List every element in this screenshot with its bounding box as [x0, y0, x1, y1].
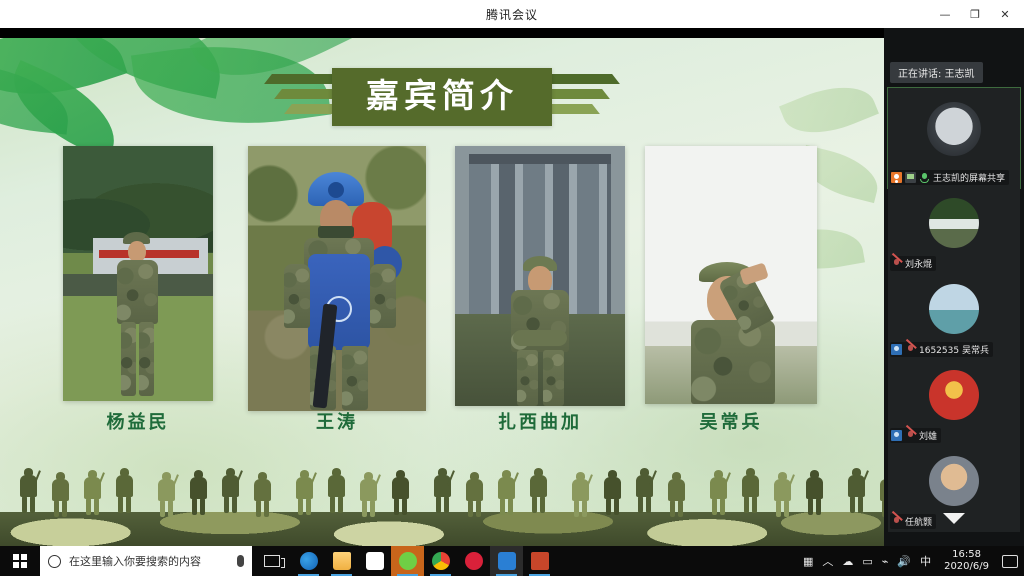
- task-view-button[interactable]: [252, 546, 292, 576]
- search-icon: [48, 555, 61, 568]
- task-view-icon: [264, 555, 280, 567]
- taskbar-app-opera[interactable]: [457, 546, 490, 576]
- soldier-silhouette: [708, 470, 730, 518]
- participant-avatar: [929, 370, 979, 420]
- soldier-silhouette: [252, 472, 274, 520]
- window-titlebar: 腾讯会议 — ❐ ✕: [0, 0, 1024, 28]
- clock-time: 16:58: [944, 549, 989, 562]
- soldier-silhouette: [570, 472, 592, 520]
- taskbar-app-powerpoint[interactable]: [523, 546, 556, 576]
- soldier-silhouette: [528, 468, 550, 516]
- microphone-muted-icon: [891, 516, 902, 527]
- soldier-silhouette: [772, 472, 794, 520]
- clock-date: 2020/6/9: [944, 561, 989, 574]
- participant-namebar: 任航颢: [890, 514, 936, 529]
- notification-center-icon[interactable]: [1002, 555, 1018, 568]
- soldier-silhouette-strip: [0, 450, 884, 546]
- speaking-indicator: 正在讲话: 王志凯: [890, 62, 983, 83]
- soldier-silhouette: [740, 468, 762, 516]
- close-button[interactable]: ✕: [990, 2, 1020, 26]
- window-controls: — ❐ ✕: [930, 0, 1020, 28]
- chrome-icon: [432, 552, 450, 570]
- edge-icon: [300, 552, 318, 570]
- guest-card: 吴常兵: [645, 146, 817, 404]
- participant-name: 任航颢: [905, 515, 932, 528]
- soldier-silhouette: [464, 472, 486, 520]
- participant-name: 王志凯的屏幕共享: [933, 171, 1005, 184]
- powerpoint-icon: [531, 552, 549, 570]
- maximize-button[interactable]: ❐: [960, 2, 990, 26]
- soldier-silhouette: [156, 472, 178, 520]
- guest-name: 王涛: [248, 408, 426, 434]
- camo-ground: [0, 512, 884, 546]
- start-button[interactable]: [0, 546, 40, 576]
- scroll-down-icon[interactable]: [943, 513, 965, 524]
- file-explorer-icon: [333, 552, 351, 570]
- tray-volume-icon[interactable]: 🔊: [897, 555, 911, 568]
- participant-rail[interactable]: 正在讲话: 王志凯 王志凯的屏幕共享刘永焜1652535 吴常兵刘雄任航颢: [884, 28, 1024, 546]
- soldier-silhouette: [326, 468, 348, 516]
- tencent-meeting-icon: [498, 552, 516, 570]
- guest-card: 王涛: [248, 146, 426, 411]
- guest-photo: [63, 146, 213, 401]
- microphone-muted-icon: [891, 258, 902, 269]
- taskbar-app-file-explorer[interactable]: [325, 546, 358, 576]
- host-icon: [891, 172, 902, 183]
- guest-photo: [455, 146, 625, 406]
- microphone-muted-icon: [905, 344, 916, 355]
- soldier-silhouette: [188, 470, 210, 518]
- microphone-on-icon: [919, 172, 930, 183]
- soldier-silhouette: [804, 470, 826, 518]
- participant-namebar: 刘永焜: [890, 256, 936, 271]
- system-tray: ▦ ︿ ☁ ▭ ⌁ 🔊 中 16:58 2020/6/9: [803, 549, 1024, 574]
- video-on-icon: [891, 430, 902, 441]
- soldier-silhouette: [432, 468, 454, 516]
- soldier-silhouette: [496, 470, 518, 518]
- soldier-silhouette: [390, 470, 412, 518]
- windows-logo-icon: [13, 554, 27, 568]
- participant-name: 刘永焜: [905, 257, 932, 270]
- slide-title-banner: 嘉宾简介: [0, 68, 884, 132]
- input-method-indicator[interactable]: 中: [920, 553, 931, 569]
- wechat-icon: [399, 552, 417, 570]
- presentation-slide: 嘉宾简介: [0, 38, 884, 546]
- soldier-silhouette: [602, 470, 624, 518]
- guest-card: 杨益民: [63, 146, 213, 401]
- video-on-icon: [891, 344, 902, 355]
- guest-photo: [248, 146, 426, 411]
- participant-tile[interactable]: 刘永焜: [888, 188, 1020, 274]
- clock[interactable]: 16:58 2020/6/9: [940, 549, 993, 574]
- shared-screen-stage[interactable]: 嘉宾简介: [0, 28, 884, 546]
- guest-name: 杨益民: [63, 408, 213, 434]
- tencent-meeting-window: 腾讯会议 — ❐ ✕: [0, 0, 1024, 576]
- participant-avatar: [927, 102, 981, 156]
- taskbar-app-tencent-meeting[interactable]: [490, 546, 523, 576]
- guest-name: 吴常兵: [645, 408, 817, 434]
- guest-card: 扎西曲加: [455, 146, 625, 406]
- taskbar-app-microsoft-store[interactable]: [358, 546, 391, 576]
- microphone-icon[interactable]: [237, 555, 244, 567]
- window-title: 腾讯会议: [486, 6, 538, 23]
- guest-photo: [645, 146, 817, 404]
- participant-namebar: 王志凯的屏幕共享: [890, 170, 1009, 185]
- participant-avatar: [929, 284, 979, 334]
- soldier-silhouette: [18, 468, 40, 516]
- guest-name: 扎西曲加: [455, 408, 625, 434]
- minimize-button[interactable]: —: [930, 2, 960, 26]
- search-placeholder: 在这里输入你要搜索的内容: [69, 553, 229, 569]
- taskbar-app-wechat[interactable]: [391, 546, 424, 576]
- windows-taskbar: 在这里输入你要搜索的内容 ▦ ︿: [0, 546, 1024, 576]
- microsoft-store-icon: [366, 552, 384, 570]
- tray-grid-icon[interactable]: ▦: [803, 555, 813, 568]
- soldier-silhouette: [220, 468, 242, 516]
- soldier-silhouette: [50, 472, 72, 520]
- participant-name: 刘雄: [919, 429, 937, 442]
- slide-title-box: 嘉宾简介: [332, 68, 552, 126]
- participant-tile[interactable]: 1652535 吴常兵: [888, 274, 1020, 360]
- tray-cloud-icon[interactable]: ☁: [842, 555, 853, 568]
- tray-wifi-icon[interactable]: ⌁: [882, 555, 889, 568]
- participant-tile[interactable]: 王志凯的屏幕共享: [888, 88, 1020, 188]
- microphone-muted-icon: [905, 430, 916, 441]
- screen-share-icon: [905, 172, 916, 183]
- soldier-silhouette: [358, 472, 380, 520]
- soldier-silhouette: [294, 470, 316, 518]
- participant-tile[interactable]: 刘雄: [888, 360, 1020, 446]
- participant-namebar: 1652535 吴常兵: [890, 342, 993, 357]
- opera-icon: [465, 552, 483, 570]
- tray-chevron-up-icon[interactable]: ︿: [822, 553, 833, 569]
- soldier-silhouette: [634, 468, 656, 516]
- page-title: 嘉宾简介: [366, 77, 518, 115]
- participant-namebar: 刘雄: [890, 428, 941, 443]
- soldier-silhouette: [846, 468, 868, 516]
- soldier-silhouette: [114, 468, 136, 516]
- taskbar-app-chrome[interactable]: [424, 546, 457, 576]
- soldier-silhouette: [82, 470, 104, 518]
- guest-gallery: 杨益民: [0, 146, 884, 446]
- participant-avatar: [929, 456, 979, 506]
- taskbar-app-edge[interactable]: [292, 546, 325, 576]
- search-box[interactable]: 在这里输入你要搜索的内容: [40, 546, 252, 576]
- participant-name: 1652535 吴常兵: [919, 343, 989, 356]
- soldier-silhouette: [666, 472, 688, 520]
- participant-avatar: [929, 198, 979, 248]
- tray-battery-icon[interactable]: ▭: [862, 555, 872, 568]
